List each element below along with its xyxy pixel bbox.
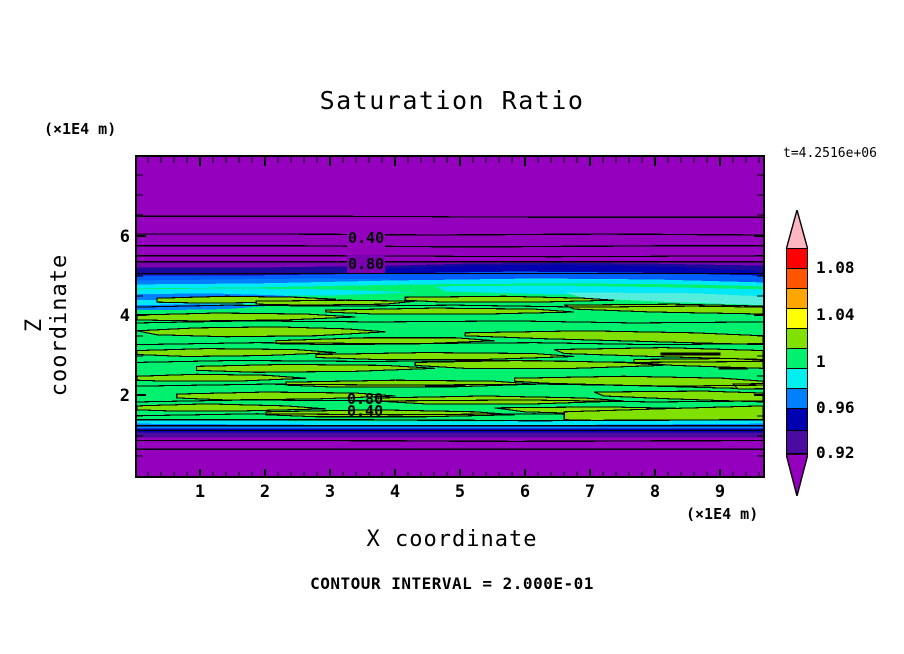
y-axis-unit-label: (×1E4 m) [44,120,116,138]
colorbar-tick-label-096: 0.96 [816,398,855,417]
x-tick-label-1: 1 [185,482,215,502]
colorbar-bands [786,248,808,454]
x-tick-label-5: 5 [445,482,475,502]
x-tick-label-6: 6 [510,482,540,502]
colorbar-band-1 [786,268,808,289]
colorbar-band-4 [786,328,808,349]
colorbar-tick-label-1: 1 [816,352,826,371]
y-axis-title: Z coordinate [22,245,72,405]
x-tick-label-4: 4 [380,482,410,502]
colorbar-band-3 [786,308,808,329]
x-tick-label-2: 2 [250,482,280,502]
contour-interval-caption: CONTOUR INTERVAL = 2.000E-01 [0,574,904,593]
x-tick-label-8: 8 [640,482,670,502]
x-tick-label-9: 9 [705,482,735,502]
timestamp-annotation: t=4.2516e+06 [783,146,877,161]
x-axis-unit-label: (×1E4 m) [686,505,758,523]
contour-plot-panel: 0.40 0.80 0.80 0.40 [135,155,765,478]
colorbar-tick-label-092: 0.92 [816,443,855,462]
contour-label-1: 0.80 [347,255,385,273]
page-title: Saturation Ratio [0,86,904,115]
contour-field [137,157,763,476]
contour-label-0: 0.40 [347,229,385,247]
x-axis-title: X coordinate [0,527,904,552]
colorbar-top-arrow-icon [786,210,808,250]
colorbar-band-7 [786,388,808,409]
colorbar-band-0 [786,248,808,269]
colorbar-band-5 [786,348,808,369]
colorbar-tick-label-104: 1.04 [816,305,855,324]
contour-label-3: 0.40 [347,402,383,420]
x-tick-label-3: 3 [315,482,345,502]
colorbar-band-8 [786,408,808,431]
x-tick-label-7: 7 [575,482,605,502]
colorbar-band-2 [786,288,808,309]
colorbar-band-6 [786,368,808,389]
y-tick-label-2: 2 [104,386,130,406]
y-tick-label-4: 4 [104,306,130,326]
y-tick-label-6: 6 [104,227,130,247]
colorbar-bottom-arrow-icon [786,454,808,496]
colorbar-band-9 [786,430,808,454]
colorbar-tick-label-108: 1.08 [816,258,855,277]
